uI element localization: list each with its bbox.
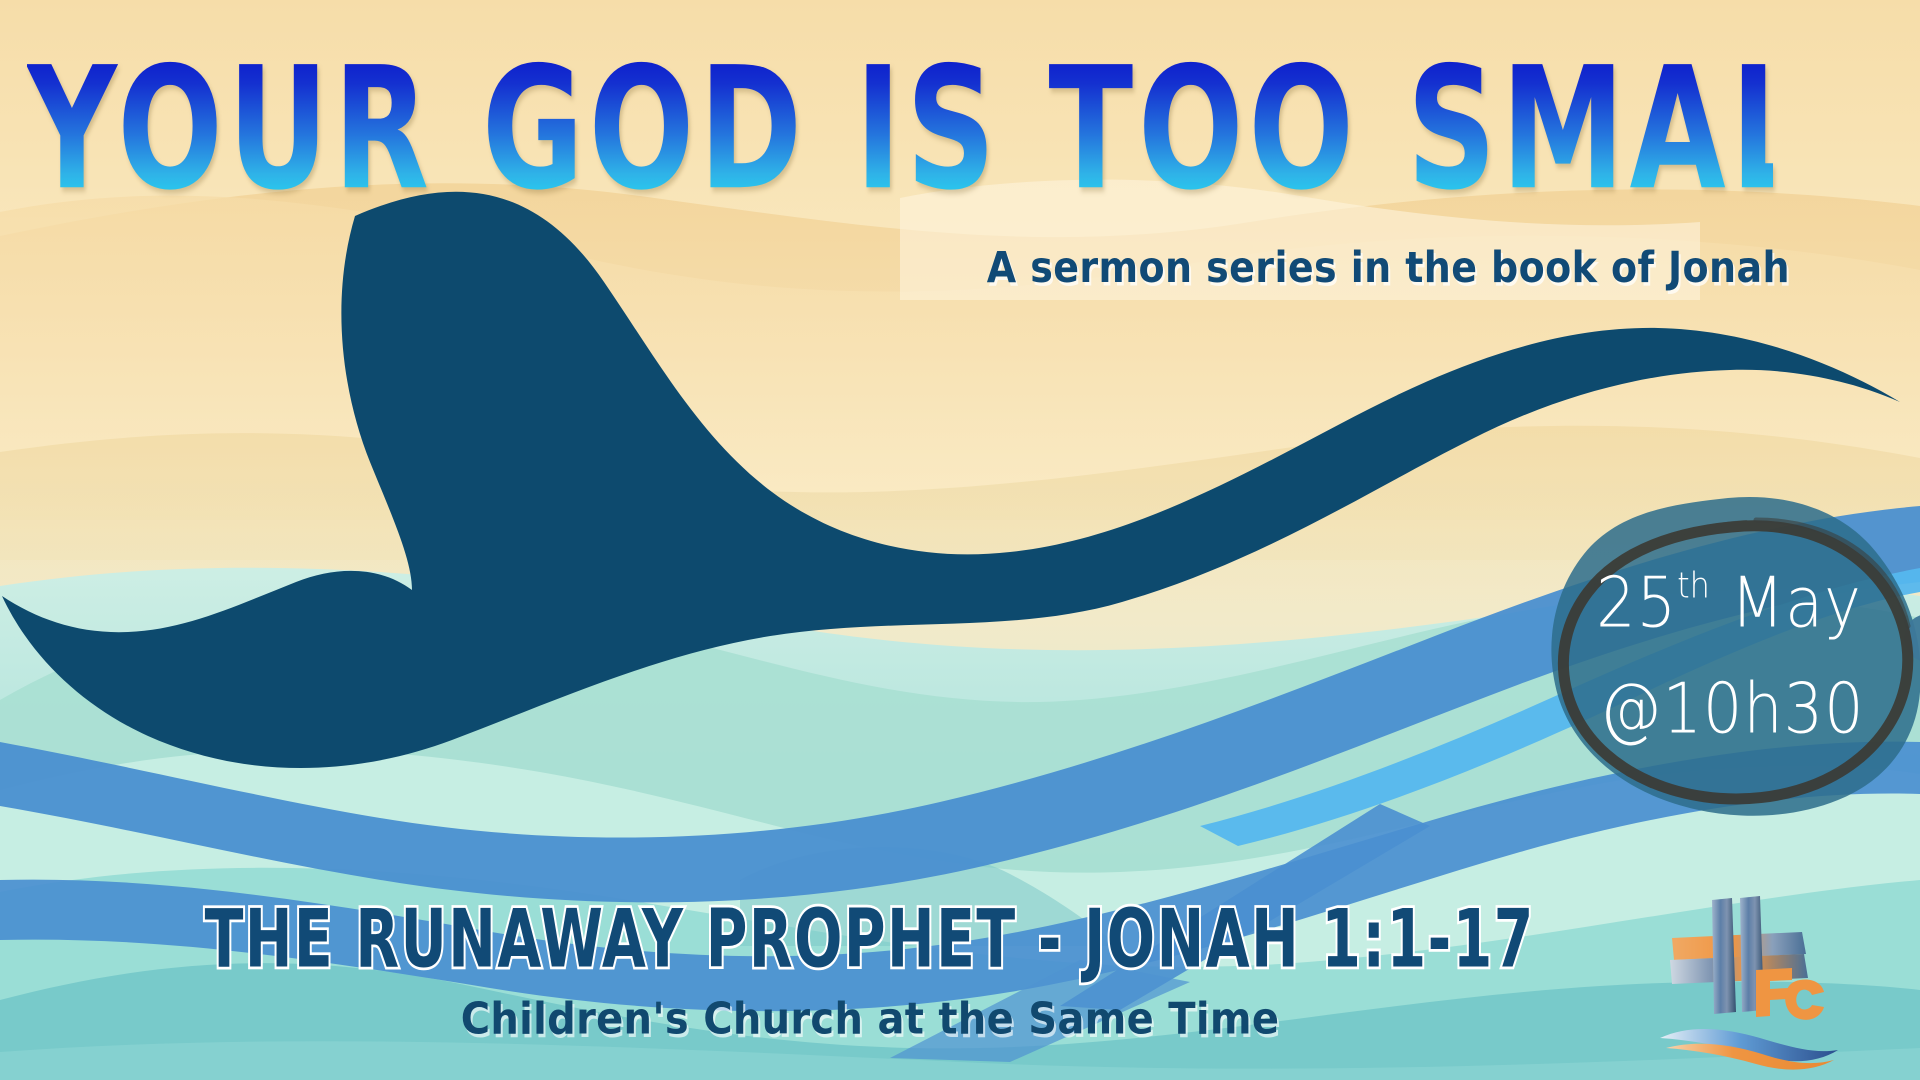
date-line-time: @10h30 [1599,674,1864,743]
childrens-church-note: Children's Church at the Same Time [0,994,1830,1045]
logo-fc-letters [1756,968,1824,1020]
church-logo [1652,888,1852,1073]
cross-fc-logo-icon [1652,888,1852,1073]
logo-cross-post-left [1712,898,1736,1014]
title-block: YOUR GOD IS TOO SMALL [0,46,1800,174]
date-day-number: 25 [1596,561,1677,643]
footer-block: THE RUNAWAY PROPHET - JONAH 1:1-17 Child… [0,892,1920,960]
date-line-day-month: 25th May [1596,567,1862,638]
page-title: YOUR GOD IS TOO SMALL [27,46,1773,215]
sermon-series-poster: 25th May @10h30 YOUR GOD IS TOO SMALL A … [0,0,1920,1080]
date-badge: 25th May @10h30 [1532,490,1920,820]
date-badge-text: 25th May @10h30 [1532,490,1920,820]
date-day-suffix: th [1677,563,1710,606]
sermon-reference: THE RUNAWAY PROPHET - JONAH 1:1-17 [205,892,1535,986]
subtitle: A sermon series in the book of Jonah [0,243,1790,292]
date-month: May [1731,561,1862,643]
